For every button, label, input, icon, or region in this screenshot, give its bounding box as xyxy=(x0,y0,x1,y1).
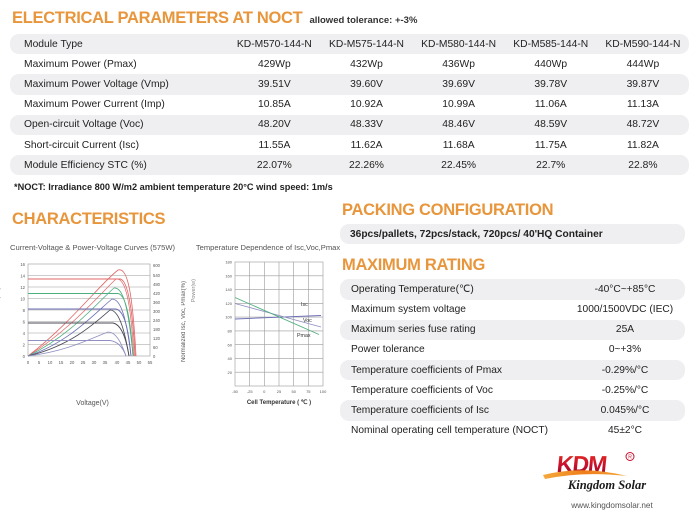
iv-chart-svg: 024 6810 121416 060120 180240300 3604204… xyxy=(0,254,185,379)
cell-value: 48.59V xyxy=(505,115,597,135)
svg-text:Isc: Isc xyxy=(301,302,308,308)
temp-xlabel-text: Cell Temperature ( ℃ ) xyxy=(247,399,311,406)
column-header-model-1: KD-M570-144-N xyxy=(228,34,320,54)
svg-text:-25: -25 xyxy=(247,389,254,394)
table-row: Open-circuit Voltage (Voc) 48.20V 48.33V… xyxy=(10,115,689,135)
svg-text:35: 35 xyxy=(103,360,108,365)
cell-value: 10.92A xyxy=(320,95,412,115)
cell-value: 444Wp xyxy=(597,54,689,74)
row-label: Maximum Power (Pmax) xyxy=(10,54,228,74)
cell-value: 11.82A xyxy=(597,135,689,155)
electrical-title-row: ELECTRICAL PARAMETERS AT NOCT allowed to… xyxy=(0,0,699,34)
svg-text:60: 60 xyxy=(228,342,233,347)
electrical-parameters-table: Module Type KD-M570-144-N KD-M575-144-N … xyxy=(10,34,689,175)
svg-text:180: 180 xyxy=(225,259,232,264)
cell-value: 22.7% xyxy=(505,155,597,175)
svg-text:0: 0 xyxy=(23,354,26,359)
cell-value: 0~+3% xyxy=(565,340,685,360)
cell-value: 39.69V xyxy=(413,74,505,94)
iv-curve-chart: Current-Voltage & Power-Voltage Curves (… xyxy=(0,239,185,410)
iv-chart-title: Current-Voltage & Power-Voltage Curves (… xyxy=(0,243,185,253)
maximum-rating-body: Operating Temperature(℃) -40°C~+85°C Max… xyxy=(340,279,685,441)
svg-text:80: 80 xyxy=(228,328,233,333)
temp-ylabel-power: Power(w) xyxy=(191,279,197,307)
svg-text:55: 55 xyxy=(148,360,153,365)
svg-text:0: 0 xyxy=(263,389,266,394)
cell-value: 22.45% xyxy=(413,155,505,175)
row-label: Maximum series fuse rating xyxy=(340,320,565,340)
table-row: Nominal operating cell temperature (NOCT… xyxy=(340,421,685,441)
svg-text:16: 16 xyxy=(20,262,25,267)
svg-text:10: 10 xyxy=(20,296,25,301)
svg-text:160: 160 xyxy=(225,273,232,278)
svg-text:40: 40 xyxy=(115,360,120,365)
svg-text:8: 8 xyxy=(23,308,26,313)
table-row: Maximum system voltage 1000/1500VDC (IEC… xyxy=(340,300,685,320)
packing-configuration-line: 36pcs/pallets, 72pcs/stack, 720pcs/ 40'H… xyxy=(340,224,685,244)
row-label: Temperature coefficients of Voc xyxy=(340,380,565,400)
column-header-model-5: KD-M590-144-N xyxy=(597,34,689,54)
table-row: Maximum Power Voltage (Vmp) 39.51V 39.60… xyxy=(10,74,689,94)
cell-value: 22.26% xyxy=(320,155,412,175)
cell-value: -40°C~+85°C xyxy=(565,279,685,299)
svg-text:-50: -50 xyxy=(232,389,239,394)
cell-value: 48.33V xyxy=(320,115,412,135)
svg-text:100: 100 xyxy=(225,314,232,319)
svg-text:60: 60 xyxy=(153,345,158,350)
svg-text:40: 40 xyxy=(228,356,233,361)
table-row: Temperature coefficients of Voc -0.25%/°… xyxy=(340,380,685,400)
temp-chart-svg: 180160140 12010080 604020 -50-250 255075… xyxy=(193,254,343,406)
row-label: Maximum Power Current (Imp) xyxy=(10,95,228,115)
characteristics-title-row: CHARACTERISTICS xyxy=(0,201,340,231)
cell-value: 11.62A xyxy=(320,135,412,155)
table-row: Power tolerance 0~+3% xyxy=(340,340,685,360)
company-logo: KDM R Kingdom Solar www.kingdomsolar.net xyxy=(537,451,687,510)
row-label: Temperature coefficients of Pmax xyxy=(340,360,565,380)
cell-value: 45±2°C xyxy=(565,421,685,441)
logo-website-url: www.kingdomsolar.net xyxy=(537,501,687,510)
iv-xlabel: Voltage(V) xyxy=(0,400,185,407)
cell-value: 10.85A xyxy=(228,95,320,115)
cell-value: 22.8% xyxy=(597,155,689,175)
svg-text:25: 25 xyxy=(81,360,86,365)
column-header-model-2: KD-M575-144-N xyxy=(320,34,412,54)
temp-ylabel: Normalized Isc, Voc, Pmax(%) xyxy=(181,281,187,367)
svg-text:140: 140 xyxy=(225,287,232,292)
svg-text:50: 50 xyxy=(291,389,296,394)
kdm-logo-icon: KDM R Kingdom Solar xyxy=(537,451,687,493)
table-row: Maximum series fuse rating 25A xyxy=(340,320,685,340)
svg-text:45: 45 xyxy=(126,360,131,365)
tolerance-note: allowed tolerance: +-3% xyxy=(309,15,417,26)
svg-text:360: 360 xyxy=(153,300,161,305)
noct-footnote: *NOCT: Irradiance 800 W/m2 ambient tempe… xyxy=(14,182,699,192)
svg-text:120: 120 xyxy=(225,301,232,306)
svg-text:50: 50 xyxy=(137,360,142,365)
svg-text:4: 4 xyxy=(23,331,26,336)
svg-text:R: R xyxy=(628,455,632,461)
logo-name-text: Kingdom Solar xyxy=(567,478,646,492)
cell-value: 48.20V xyxy=(228,115,320,135)
characteristics-heading: CHARACTERISTICS xyxy=(12,210,165,229)
characteristics-column: CHARACTERISTICS Current-Voltage & Power-… xyxy=(0,201,340,441)
svg-text:100: 100 xyxy=(320,389,327,394)
row-label: Maximum Power Voltage (Vmp) xyxy=(10,74,228,94)
svg-text:0: 0 xyxy=(153,354,156,359)
svg-text:2: 2 xyxy=(23,342,26,347)
table-row: Short-circuit Current (Isc) 11.55A 11.62… xyxy=(10,135,689,155)
svg-text:Pmax: Pmax xyxy=(297,333,311,339)
charts-container: Current-Voltage & Power-Voltage Curves (… xyxy=(0,239,340,410)
svg-text:300: 300 xyxy=(153,309,161,314)
svg-text:180: 180 xyxy=(153,327,161,332)
cell-value: 11.06A xyxy=(505,95,597,115)
cell-value: 0.045%/°C xyxy=(565,400,685,420)
cell-value: 11.55A xyxy=(228,135,320,155)
row-label: Module Efficiency STC (%) xyxy=(10,155,228,175)
table-row: Module Efficiency STC (%) 22.07% 22.26% … xyxy=(10,155,689,175)
svg-text:14: 14 xyxy=(20,273,25,278)
cell-value: 436Wp xyxy=(413,54,505,74)
row-label: Power tolerance xyxy=(340,340,565,360)
row-label: Maximum system voltage xyxy=(340,300,565,320)
row-label: Nominal operating cell temperature (NOCT… xyxy=(340,421,565,441)
cell-value: 11.68A xyxy=(413,135,505,155)
cell-value: 48.46V xyxy=(413,115,505,135)
temperature-dependence-chart: Temperature Dependence of Isc,Voc,Pmax xyxy=(193,239,343,410)
svg-text:6: 6 xyxy=(23,319,26,324)
column-header-model-4: KD-M585-144-N xyxy=(505,34,597,54)
svg-text:240: 240 xyxy=(153,318,161,323)
column-header-module-type: Module Type xyxy=(10,34,228,54)
cell-value: 22.07% xyxy=(228,155,320,175)
svg-text:420: 420 xyxy=(153,291,161,296)
svg-text:600: 600 xyxy=(153,263,161,268)
cell-value: 25A xyxy=(565,320,685,340)
cell-value: 39.87V xyxy=(597,74,689,94)
row-label: Operating Temperature(℃) xyxy=(340,279,565,299)
row-label: Open-circuit Voltage (Voc) xyxy=(10,115,228,135)
cell-value: 39.51V xyxy=(228,74,320,94)
svg-text:120: 120 xyxy=(153,336,161,341)
table-row: Maximum Power Current (Imp) 10.85A 10.92… xyxy=(10,95,689,115)
cell-value: 11.13A xyxy=(597,95,689,115)
row-label: Short-circuit Current (Isc) xyxy=(10,135,228,155)
svg-text:25: 25 xyxy=(277,389,282,394)
iv-ylabel: Current ( A ) xyxy=(0,287,1,330)
svg-text:0: 0 xyxy=(27,360,30,365)
svg-text:10: 10 xyxy=(48,360,53,365)
row-label: Temperature coefficients of Isc xyxy=(340,400,565,420)
svg-text:480: 480 xyxy=(153,282,161,287)
cell-value: 48.72V xyxy=(597,115,689,135)
table-row: Operating Temperature(℃) -40°C~+85°C xyxy=(340,279,685,299)
cell-value: 39.78V xyxy=(505,74,597,94)
cell-value: 432Wp xyxy=(320,54,412,74)
svg-text:30: 30 xyxy=(92,360,97,365)
cell-value: 39.60V xyxy=(320,74,412,94)
specs-column: PACKING CONFIGURATION 36pcs/pallets, 72p… xyxy=(340,201,699,441)
cell-value: -0.29%/°C xyxy=(565,360,685,380)
table-row: Maximum Power (Pmax) 429Wp 432Wp 436Wp 4… xyxy=(10,54,689,74)
svg-text:12: 12 xyxy=(20,285,25,290)
cell-value: 429Wp xyxy=(228,54,320,74)
svg-text:540: 540 xyxy=(153,273,161,278)
electrical-heading: ELECTRICAL PARAMETERS AT NOCT xyxy=(12,9,302,28)
packing-heading: PACKING CONFIGURATION xyxy=(342,201,553,220)
maximum-rating-heading: MAXIMUM RATING xyxy=(342,256,485,275)
packing-title-row: PACKING CONFIGURATION xyxy=(340,201,699,222)
maximum-rating-table: Operating Temperature(℃) -40°C~+85°C Max… xyxy=(340,279,685,441)
table-header-row: Module Type KD-M570-144-N KD-M575-144-N … xyxy=(10,34,689,54)
svg-text:15: 15 xyxy=(59,360,64,365)
table-row: Temperature coefficients of Pmax -0.29%/… xyxy=(340,360,685,380)
cell-value: 440Wp xyxy=(505,54,597,74)
maximum-rating-title-row: MAXIMUM RATING xyxy=(340,244,699,276)
svg-text:5: 5 xyxy=(38,360,41,365)
table-row: Temperature coefficients of Isc 0.045%/°… xyxy=(340,400,685,420)
cell-value: 1000/1500VDC (IEC) xyxy=(565,300,685,320)
electrical-table-body: Module Type KD-M570-144-N KD-M575-144-N … xyxy=(10,34,689,175)
temp-chart-title: Temperature Dependence of Isc,Voc,Pmax xyxy=(193,243,343,253)
svg-text:20: 20 xyxy=(228,369,233,374)
svg-text:20: 20 xyxy=(70,360,75,365)
svg-text:Voc: Voc xyxy=(303,318,312,324)
cell-value: 10.99A xyxy=(413,95,505,115)
cell-value: -0.25%/°C xyxy=(565,380,685,400)
column-header-model-3: KD-M580-144-N xyxy=(413,34,505,54)
content-columns: CHARACTERISTICS Current-Voltage & Power-… xyxy=(0,201,699,441)
svg-text:75: 75 xyxy=(306,389,311,394)
cell-value: 11.75A xyxy=(505,135,597,155)
